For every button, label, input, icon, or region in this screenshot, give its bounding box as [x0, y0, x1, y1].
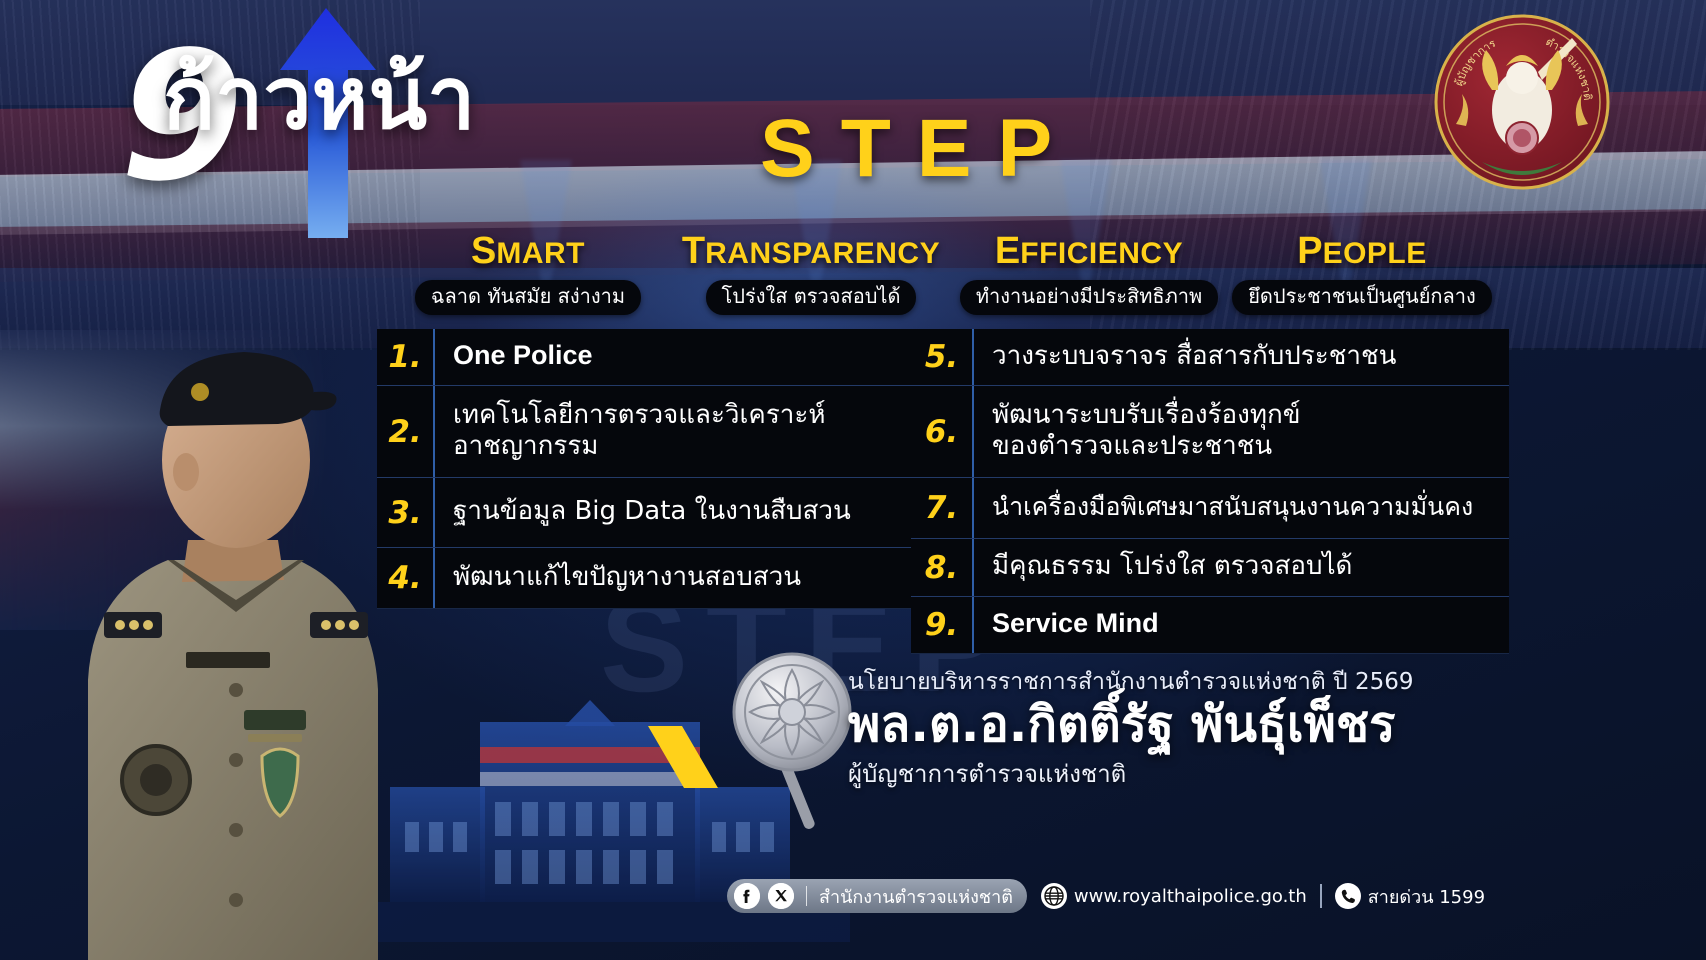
list-item[interactable]: 8. มีคุณธรรม โปร่งใส ตรวจสอบได้ — [911, 538, 1509, 596]
social-label: สำนักงานตำรวจแห่งชาติ — [819, 882, 1013, 911]
social-group: สำนักงานตำรวจแห่งชาติ — [727, 879, 1027, 913]
acronym-word: SMART — [398, 232, 658, 270]
x-twitter-icon[interactable] — [768, 883, 794, 909]
acronym-rest: FFICIENCY — [1020, 237, 1183, 270]
list-item-number: 5. — [911, 329, 974, 385]
policy-list-right: 5. วางระบบจราจร สื่อสารกับประชาชน 6. พัฒ… — [911, 329, 1509, 654]
infographic-canvas: STEP — [0, 0, 1706, 960]
flag-drape-lower-left — [0, 330, 330, 630]
acronym-initial: E — [995, 230, 1020, 272]
list-item-number: 2. — [377, 386, 435, 477]
list-item-number: 7. — [911, 478, 974, 538]
list-item-text: One Police — [435, 329, 914, 385]
acronym-efficiency: EFFICIENCY ทำงานอย่างมีประสิทธิภาพ — [944, 232, 1234, 315]
facebook-icon[interactable] — [734, 883, 760, 909]
acronym-subtitle-pill: ยึดประชาชนเป็นศูนย์กลาง — [1232, 280, 1492, 315]
list-item[interactable]: 1. One Police — [377, 329, 914, 385]
acronym-people: PEOPLE ยึดประชาชนเป็นศูนย์กลาง — [1222, 232, 1502, 315]
signature-block: นโยบายบริหารราชการสำนักงานตำรวจแห่งชาติ … — [848, 668, 1548, 793]
list-item-text: มีคุณธรรม โปร่งใส ตรวจสอบได้ — [974, 539, 1509, 596]
hotline-item[interactable]: สายด่วน 1599 — [1335, 882, 1485, 911]
acronym-rest: MART — [496, 237, 585, 270]
phone-icon — [1335, 883, 1361, 909]
policy-list-left: 1. One Police 2. เทคโนโลยีการตรวจและวิเค… — [377, 329, 914, 609]
list-item-number: 1. — [377, 329, 435, 385]
list-item-text: นำเครื่องมือพิเศษมาสนับสนุนงานความมั่นคง — [974, 478, 1509, 538]
list-item-number: 6. — [911, 386, 974, 477]
step-title: STEP — [760, 108, 1078, 190]
list-item[interactable]: 4. พัฒนาแก้ไขปัญหางานสอบสวน — [377, 547, 914, 609]
list-item[interactable]: 7. นำเครื่องมือพิเศษมาสนับสนุนงานความมั่… — [911, 477, 1509, 538]
list-item-text: ฐานข้อมูล Big Data ในงานสืบสวน — [435, 478, 914, 547]
list-item[interactable]: 2. เทคโนโลยีการตรวจและวิเคราะห์ อาชญากรร… — [377, 385, 914, 477]
list-item-number: 8. — [911, 539, 974, 596]
acronym-initial: S — [471, 230, 496, 272]
commander-name: พล.ต.อ.กิตติ์รัฐ พันธุ์เพ็ชร — [848, 698, 1548, 752]
list-item-text: Service Mind — [974, 597, 1509, 653]
acronym-smart: SMART ฉลาด ทันสมัย สง่างาม — [398, 232, 658, 315]
step-acronym-row: SMART ฉลาด ทันสมัย สง่างาม TRANSPARENCY … — [0, 232, 1706, 318]
policy-line: นโยบายบริหารราชการสำนักงานตำรวจแห่งชาติ … — [848, 668, 1548, 697]
acronym-subtitle-pill: โปร่งใส ตรวจสอบได้ — [706, 280, 917, 315]
list-item-text: พัฒนาระบบรับเรื่องร้องทุกข์ ของตำรวจและป… — [974, 386, 1509, 477]
headline-thai: ก้าวหน้า — [163, 56, 475, 142]
list-item-number: 3. — [377, 478, 435, 547]
globe-icon — [1041, 883, 1067, 909]
acronym-initial: T — [682, 230, 705, 272]
list-item-number: 4. — [377, 548, 435, 608]
website-item[interactable]: www.royalthaipolice.go.th — [1041, 883, 1307, 909]
list-item-text: วางระบบจราจร สื่อสารกับประชาชน — [974, 329, 1509, 385]
website-url: www.royalthaipolice.go.th — [1074, 886, 1307, 907]
list-item[interactable]: 9. Service Mind — [911, 596, 1509, 654]
acronym-initial: P — [1297, 230, 1322, 272]
footer-contact-bar: สำนักงานตำรวจแห่งชาติ www.royalthaipolic… — [727, 879, 1485, 913]
acronym-subtitle-pill: ทำงานอย่างมีประสิทธิภาพ — [960, 280, 1218, 315]
list-item-text: เทคโนโลยีการตรวจและวิเคราะห์ อาชญากรรม — [435, 386, 914, 477]
list-item[interactable]: 5. วางระบบจราจร สื่อสารกับประชาชน — [911, 329, 1509, 385]
yellow-accent-wedge — [648, 726, 718, 788]
acronym-transparency: TRANSPARENCY โปร่งใส ตรวจสอบได้ — [672, 232, 950, 315]
commander-role: ผู้บัญชาการตำรวจแห่งชาติ — [848, 754, 1548, 793]
acronym-subtitle-pill: ฉลาด ทันสมัย สง่างาม — [415, 280, 641, 315]
list-item-number: 9. — [911, 597, 974, 653]
acronym-word: EFFICIENCY — [944, 232, 1234, 270]
acronym-rest: EOPLE — [1323, 237, 1427, 270]
royal-thai-police-emblem-icon: ผู้บัญชาการ ตำรวจแห่งชาติ — [1434, 14, 1610, 190]
acronym-word: TRANSPARENCY — [672, 232, 950, 270]
footer-divider — [1320, 884, 1322, 908]
list-item[interactable]: 3. ฐานข้อมูล Big Data ในงานสืบสวน — [377, 477, 914, 547]
hotline-label: สายด่วน 1599 — [1368, 882, 1485, 911]
list-item-text: พัฒนาแก้ไขปัญหางานสอบสวน — [435, 548, 914, 608]
acronym-word: PEOPLE — [1222, 232, 1502, 270]
acronym-rest: RANSPARENCY — [705, 237, 940, 270]
list-item[interactable]: 6. พัฒนาระบบรับเรื่องร้องทุกข์ ของตำรวจแ… — [911, 385, 1509, 477]
footer-separator — [806, 886, 807, 906]
